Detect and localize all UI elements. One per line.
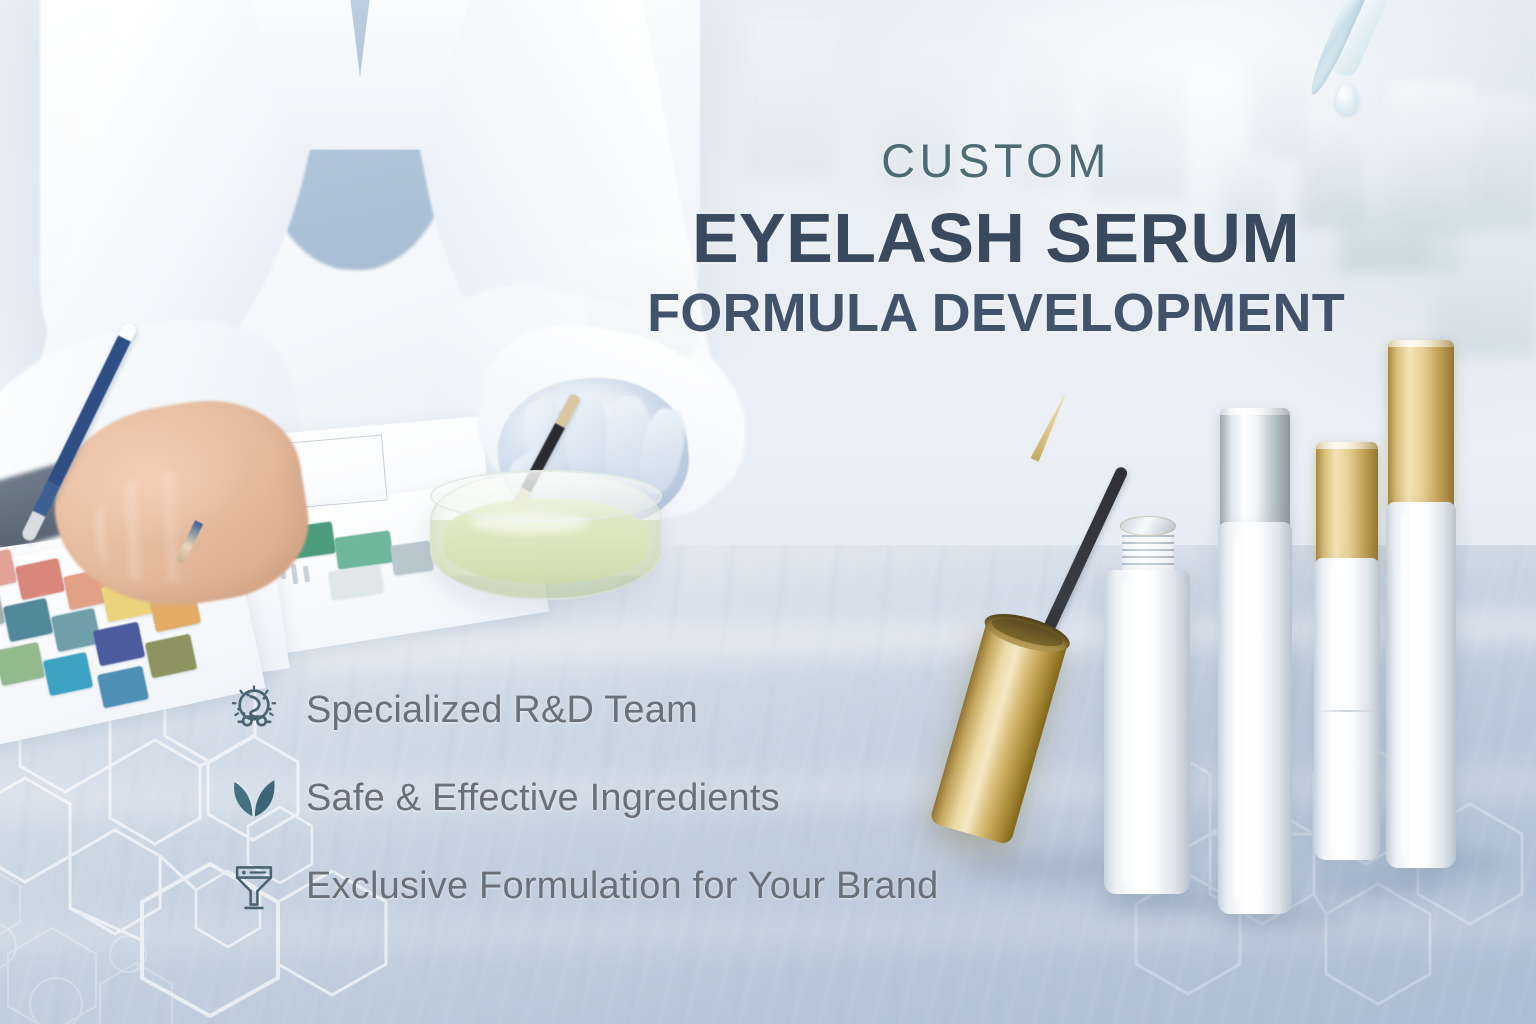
leaf-icon: [226, 770, 282, 826]
product-bottle-silver: [1218, 408, 1292, 914]
feature-item-exclusive-formulation: Exclusive Formulation for Your Brand: [226, 842, 938, 930]
gold-cap: [1388, 340, 1454, 508]
page-title: EYELASH SERUM: [636, 197, 1356, 280]
tilted-gold-cap: [929, 618, 1068, 845]
liquid-droplet: [1336, 84, 1358, 114]
feature-label: Exclusive Formulation for Your Brand: [306, 865, 938, 908]
bottle-body: [1314, 558, 1380, 860]
product-bottle-open: [1104, 520, 1190, 894]
applicator-brush-tip: [1030, 393, 1069, 462]
research-flask-icon: [226, 682, 282, 738]
bottle-body: [1104, 570, 1190, 894]
feature-list: Specialized R&D Team Safe & Effective In…: [226, 666, 938, 930]
bottle-body: [1386, 502, 1456, 868]
product-bottle-short-gold: [1314, 442, 1380, 860]
feature-label: Specialized R&D Team: [306, 689, 698, 732]
bottle-body: [1218, 522, 1292, 914]
headline-block: CUSTOM EYELASH SERUM FORMULA DEVELOPMENT: [636, 136, 1356, 345]
gold-cap: [1316, 442, 1378, 564]
feature-item-ingredients: Safe & Effective Ingredients: [226, 754, 938, 842]
feature-item-rd-team: Specialized R&D Team: [226, 666, 938, 754]
eyelash-serum-banner: CUSTOM EYELASH SERUM FORMULA DEVELOPMENT: [0, 0, 1536, 1024]
product-lineup: [900, 330, 1536, 930]
silver-cap: [1220, 408, 1290, 528]
product-bottle-tall-gold: [1386, 340, 1456, 868]
petri-dish-highlight: [470, 512, 590, 534]
bottle-neck-opening: [1120, 516, 1176, 536]
headline-kicker: CUSTOM: [636, 136, 1356, 185]
feature-label: Safe & Effective Ingredients: [306, 777, 780, 820]
funnel-icon: [226, 858, 282, 914]
